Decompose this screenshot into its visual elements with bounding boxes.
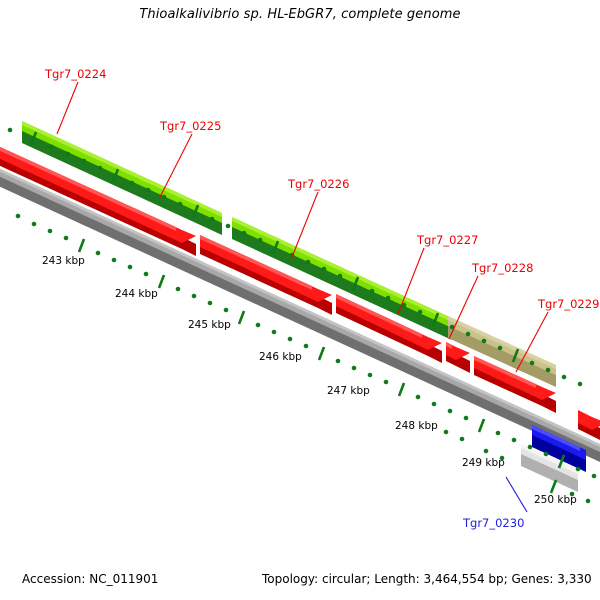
leader-tgr7-0224 (57, 82, 78, 134)
ruler-tick-label-245: 245 kbp (188, 319, 231, 331)
ruler-tick-label-243: 243 kbp (42, 255, 85, 267)
gene-label-tgr7-0224[interactable]: Tgr7_0224 (45, 67, 106, 81)
gene-bar-red-tgr7-0227[interactable] (446, 342, 470, 373)
leader-tgr7-0225 (160, 134, 192, 197)
gene-label-tgr7-0226[interactable]: Tgr7_0226 (288, 177, 349, 191)
gene-label-tgr7-0227[interactable]: Tgr7_0227 (417, 233, 478, 247)
ruler-tick-label-246: 246 kbp (259, 351, 302, 363)
ruler-tick-label-247: 247 kbp (327, 385, 370, 397)
gene-label-tgr7-0229[interactable]: Tgr7_0229 (538, 297, 599, 311)
gene-label-tgr7-0230[interactable]: Tgr7_0230 (463, 516, 524, 530)
genome-summary-text: Topology: circular; Length: 3,464,554 bp… (262, 572, 592, 586)
leader-tgr7-0230 (506, 477, 527, 512)
ruler-tick-label-244: 244 kbp (115, 288, 158, 300)
accession-text: Accession: NC_011901 (22, 572, 158, 586)
genome-backbone (0, 166, 600, 462)
leader-tgr7-0226 (292, 192, 318, 257)
ruler-tick-label-249: 249 kbp (462, 457, 505, 469)
genome-track-canvas (0, 0, 600, 600)
ruler-tick-label-248: 248 kbp (395, 420, 438, 432)
genome-viewer: Thioalkalivibrio sp. HL-EbGR7, complete … (0, 0, 600, 600)
gene-label-tgr7-0225[interactable]: Tgr7_0225 (160, 119, 221, 133)
ruler-tick-label-250: 250 kbp (534, 494, 577, 506)
gene-label-tgr7-0228[interactable]: Tgr7_0228 (472, 261, 533, 275)
